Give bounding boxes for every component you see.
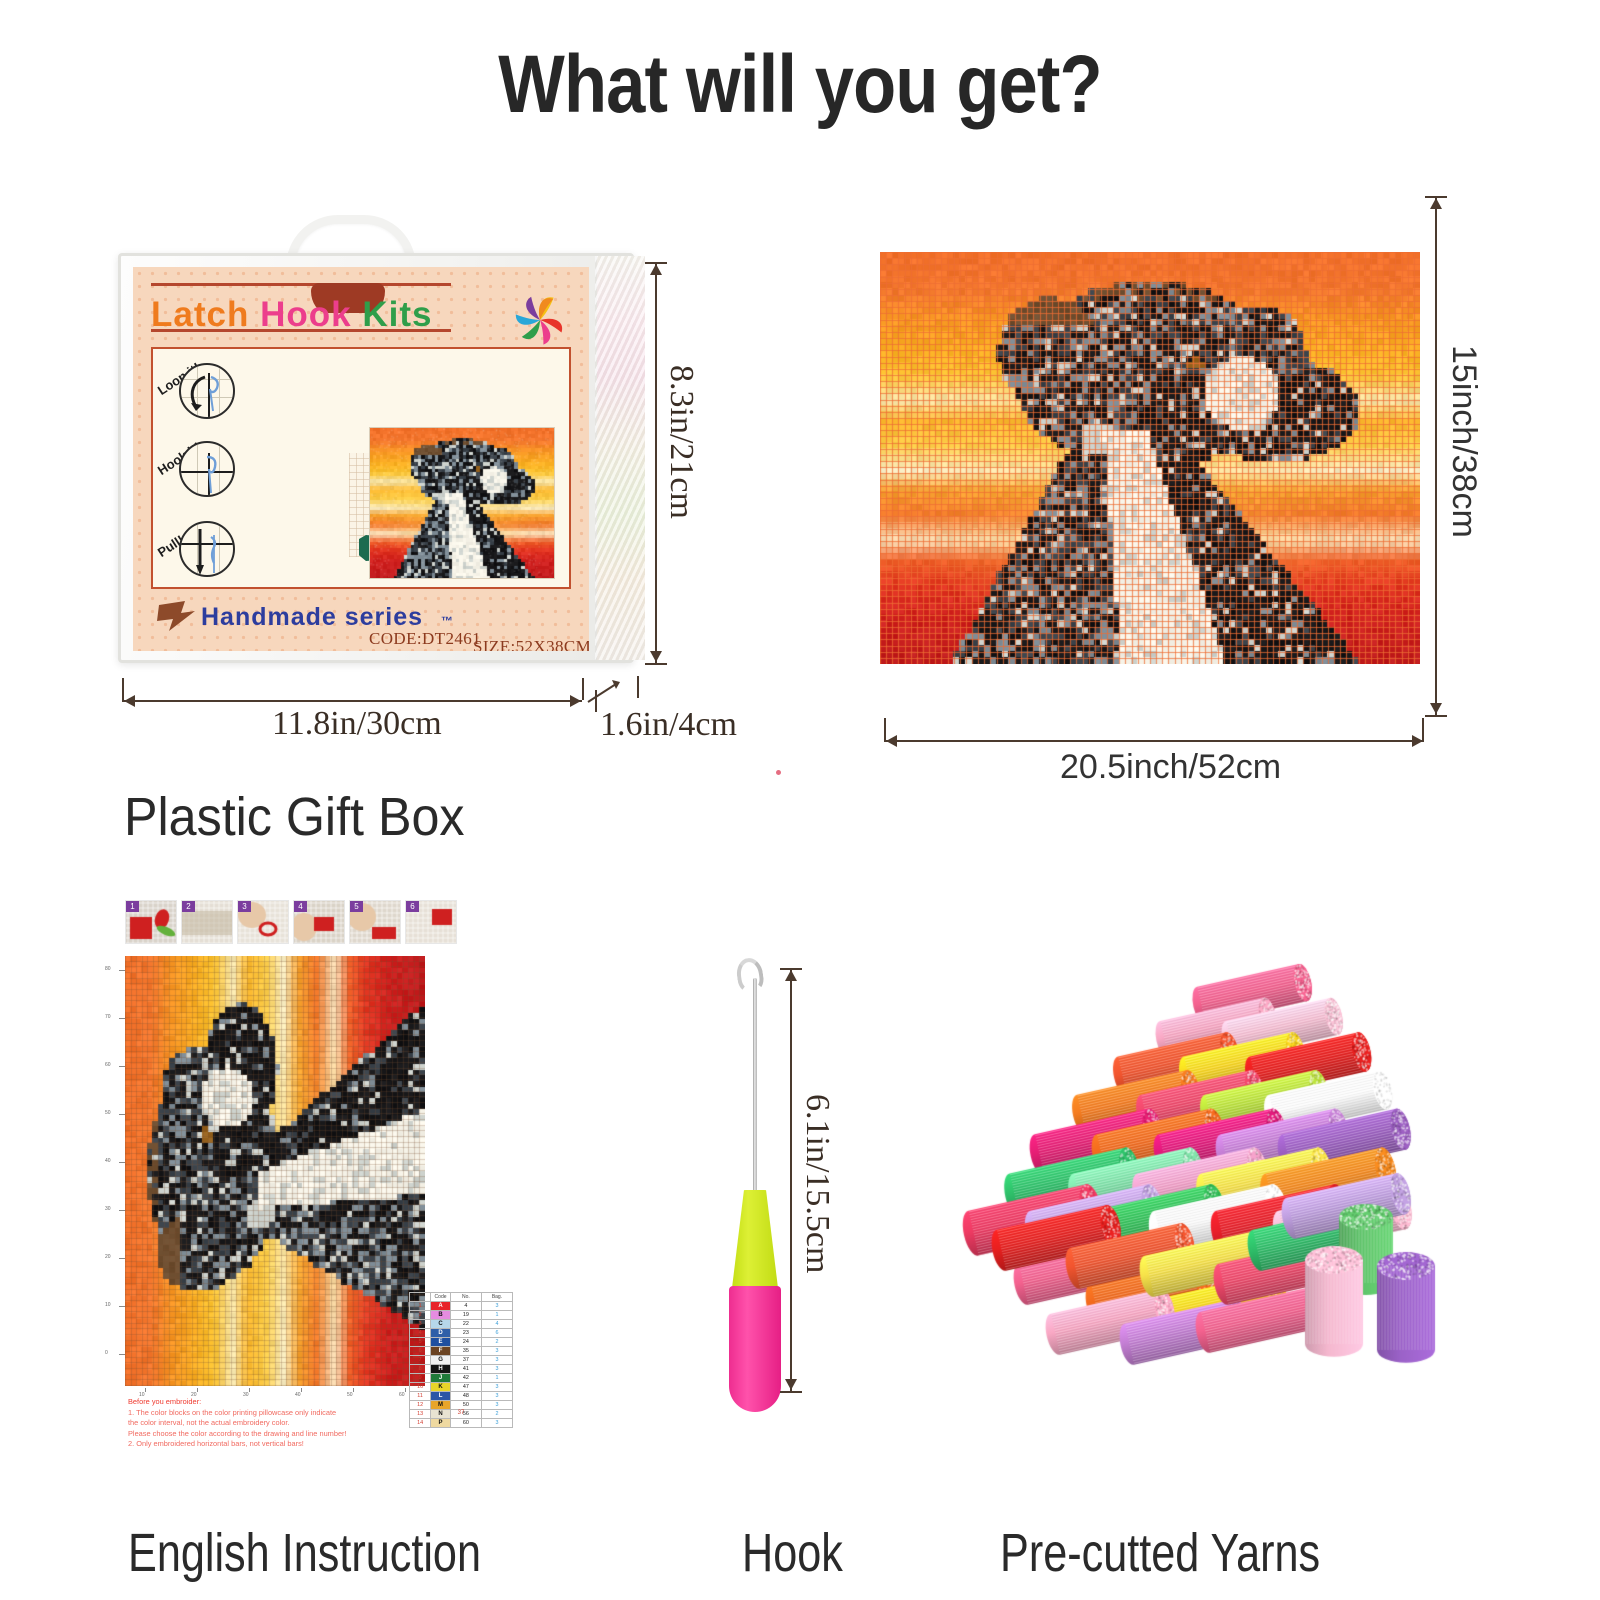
legend-index: 10 — [410, 1383, 431, 1392]
rug-preview-photo — [369, 427, 555, 579]
before-you-embroider-note: Before you embroider: 1. The color block… — [128, 1397, 412, 1450]
legend-index: 7 — [410, 1356, 431, 1365]
hook-needle — [753, 978, 757, 1196]
brand-word-latch: Latch — [151, 295, 249, 335]
legend-index: 11 — [410, 1392, 431, 1401]
product-size: SIZE:52X38CM — [473, 637, 589, 651]
product-code: CODE:DT2461 — [369, 629, 481, 649]
header-rule-top — [151, 283, 451, 286]
thumbnail-number: 6 — [406, 901, 419, 912]
dim-label-canvas-height: 15inch/38cm — [1444, 345, 1483, 538]
dim-cap-canvas-height-bottom — [1425, 715, 1447, 717]
legend-index: 4 — [410, 1329, 431, 1338]
handmade-flag-icon — [155, 597, 199, 635]
legend-number: 48 — [450, 1392, 481, 1401]
legend-number: 42 — [450, 1374, 481, 1383]
legend-swatch: M — [431, 1401, 451, 1410]
thumbnail-number: 5 — [350, 901, 363, 912]
legend-row: 2B191 — [410, 1311, 513, 1320]
printed-canvas-photo — [880, 252, 1420, 664]
step-thumbnail: 3 — [237, 900, 289, 944]
page-title: What will you get? — [112, 38, 1488, 132]
legend-number: 47 — [450, 1383, 481, 1392]
legend-col-1: Code — [431, 1293, 451, 1302]
legend-index: 14 — [410, 1419, 431, 1428]
legend-bag: 1 — [481, 1374, 512, 1383]
stray-speck — [776, 770, 781, 775]
legend-row: 12M503 — [410, 1401, 513, 1410]
thumbnail-number: 4 — [294, 901, 307, 912]
legend-row: 1A43 — [410, 1302, 513, 1311]
legend-bag: 6 — [481, 1329, 512, 1338]
legend-row: 3C224 — [410, 1320, 513, 1329]
legend-row: 9J421 — [410, 1374, 513, 1383]
note-line-3: Please choose the color according to the… — [128, 1429, 412, 1440]
hook-tip-icon — [735, 956, 765, 993]
legend-row: 7G373 — [410, 1356, 513, 1365]
color-legend-table: CodeNo.Bag. 1A432B1913C2244D2365E2426F35… — [409, 1292, 513, 1428]
legend-swatch: A — [431, 1302, 451, 1311]
legend-body: 1A432B1913C2244D2365E2426F3537G3738H4139… — [410, 1302, 513, 1428]
legend-row: 6F353 — [410, 1347, 513, 1356]
dim-line-box-height — [655, 262, 657, 664]
note-heading: Before you embroider: — [128, 1397, 412, 1408]
legend-col-3: Bag. — [481, 1293, 512, 1302]
infographic-root: What will you get? Latch Hook Kits — [0, 0, 1600, 1600]
legend-number: 19 — [450, 1311, 481, 1320]
legend-number: 60 — [450, 1419, 481, 1428]
legend-number: 41 — [450, 1365, 481, 1374]
legend-swatch: P — [431, 1419, 451, 1428]
legend-swatch: H — [431, 1365, 451, 1374]
dim-arrow-canvas-height-up — [1430, 198, 1442, 209]
legend-bag: 4 — [481, 1320, 512, 1329]
dim-line-canvas-height — [1435, 196, 1437, 716]
note-line-2: the color interval, not the actual embro… — [128, 1418, 412, 1429]
legend-row: 14P603 — [410, 1419, 513, 1428]
legend-swatch: C — [431, 1320, 451, 1329]
dim-arrow-canvas-height-down — [1430, 703, 1442, 714]
legend-number: 35 — [450, 1347, 481, 1356]
box-side-texture — [595, 256, 645, 660]
legend-swatch: G — [431, 1356, 451, 1365]
legend-swatch: E — [431, 1338, 451, 1347]
brand-word-kits: Kits — [362, 295, 432, 335]
legend-row: 11L483 — [410, 1392, 513, 1401]
legend-swatch: L — [431, 1392, 451, 1401]
legend-index: 9 — [410, 1374, 431, 1383]
dim-arrow-hook-down — [785, 1379, 797, 1390]
legend-bag: 3 — [481, 1302, 512, 1311]
legend-swatch: J — [431, 1374, 451, 1383]
caption-english-instruction: English Instruction — [128, 1522, 481, 1584]
dim-line-hook — [790, 968, 792, 1392]
pattern-chart — [125, 956, 425, 1386]
step-circle-pull — [179, 521, 235, 577]
brand-word-hook: Hook — [260, 295, 352, 335]
dim-arrow-box-width-right — [570, 695, 581, 707]
legend-swatch: K — [431, 1383, 451, 1392]
dim-line-canvas-width — [884, 740, 1424, 742]
legend-total: 37 — [409, 1410, 513, 1416]
dim-label-box-width: 11.8in/30cm — [272, 705, 442, 743]
dim-cap-box-height-bottom — [645, 663, 667, 665]
caption-hook: Hook — [742, 1522, 843, 1584]
caption-pre-cutted-yarns: Pre-cutted Yarns — [1000, 1522, 1320, 1584]
dim-label-box-depth: 1.6in/4cm — [600, 706, 737, 744]
dim-line-box-width — [122, 700, 582, 702]
dim-label-hook-length: 6.1in/15.5cm — [798, 1094, 836, 1273]
dim-cap-box-width-right — [582, 678, 584, 700]
step-thumbnail-strip: 123456 — [125, 900, 460, 948]
dim-arrow-hook-up — [785, 970, 797, 981]
legend-col-0 — [410, 1293, 431, 1302]
instruction-inner-panel: Loop it! Hook it! — [151, 347, 571, 589]
pinwheel-logo-icon — [509, 289, 571, 351]
legend-row: 8H413 — [410, 1365, 513, 1374]
thumbnail-number: 2 — [182, 901, 195, 912]
caption-plastic-gift-box: Plastic Gift Box — [124, 786, 464, 848]
step-thumbnail: 4 — [293, 900, 345, 944]
note-line-1: 1. The color blocks on the color printin… — [128, 1408, 412, 1419]
legend-number: 23 — [450, 1329, 481, 1338]
canvas-pixel-grid — [880, 252, 1420, 664]
gift-box-photo: Latch Hook Kits Loop it! — [118, 205, 648, 675]
legend-header-row: CodeNo.Bag. — [410, 1293, 513, 1302]
pre-cutted-yarns-photo — [960, 920, 1470, 1420]
legend-bag: 3 — [481, 1392, 512, 1401]
step-circle-hook — [179, 441, 235, 497]
legend-bag: 3 — [481, 1401, 512, 1410]
legend-index: 1 — [410, 1302, 431, 1311]
legend-bag: 3 — [481, 1347, 512, 1356]
legend-bag: 1 — [481, 1311, 512, 1320]
legend-swatch: B — [431, 1311, 451, 1320]
dim-arrow-canvas-width-left — [886, 735, 897, 747]
legend-index: 5 — [410, 1338, 431, 1347]
legend-bag: 3 — [481, 1365, 512, 1374]
legend-row: 4D236 — [410, 1329, 513, 1338]
legend-number: 22 — [450, 1320, 481, 1329]
note-line-4: 2. Only embroidered horizontal bars, not… — [128, 1439, 412, 1450]
step-thumbnail: 1 — [125, 900, 177, 944]
thumbnail-number: 1 — [126, 901, 139, 912]
handmade-series-label: Handmade series™ — [201, 603, 454, 632]
legend-number: 37 — [450, 1356, 481, 1365]
dim-arrow-box-depth — [586, 676, 646, 706]
legend-col-2: No. — [450, 1293, 481, 1302]
dim-cap-canvas-width-right — [1422, 718, 1424, 740]
step-thumbnail: 6 — [405, 900, 457, 944]
legend-index: 6 — [410, 1347, 431, 1356]
legend-swatch: D — [431, 1329, 451, 1338]
dim-label-canvas-width: 20.5inch/52cm — [1060, 748, 1281, 787]
step-thumbnail: 2 — [181, 900, 233, 944]
thumbnail-number: 3 — [238, 901, 251, 912]
dim-arrow-box-height-up — [650, 264, 662, 275]
legend-bag: 3 — [481, 1419, 512, 1428]
legend-index: 8 — [410, 1365, 431, 1374]
step-circle-loop — [179, 363, 235, 419]
dim-arrow-box-width-left — [124, 695, 135, 707]
legend-number: 4 — [450, 1302, 481, 1311]
dim-label-box-height: 8.3in/21cm — [662, 365, 700, 519]
legend-bag: 3 — [481, 1383, 512, 1392]
legend-index: 3 — [410, 1320, 431, 1329]
legend-bag: 2 — [481, 1338, 512, 1347]
dim-cap-hook-bottom — [780, 1391, 802, 1393]
dim-arrow-box-height-down — [650, 651, 662, 662]
box-printed-sleeve: Latch Hook Kits Loop it! — [133, 267, 589, 651]
legend-bag: 3 — [481, 1356, 512, 1365]
hook-grip-upper — [732, 1190, 778, 1288]
legend-swatch: F — [431, 1347, 451, 1356]
legend-row: 10K473 — [410, 1383, 513, 1392]
step-thumbnail: 5 — [349, 900, 401, 944]
hook-grip-lower — [729, 1286, 781, 1412]
english-instruction-sheet: 123456 80706050403020100 102030405060 Co… — [125, 900, 545, 1480]
legend-number: 24 — [450, 1338, 481, 1347]
brand-title: Latch Hook Kits — [151, 295, 471, 335]
legend-index: 2 — [410, 1311, 431, 1320]
legend-index: 12 — [410, 1401, 431, 1410]
legend-row: 5E242 — [410, 1338, 513, 1347]
legend-number: 50 — [450, 1401, 481, 1410]
